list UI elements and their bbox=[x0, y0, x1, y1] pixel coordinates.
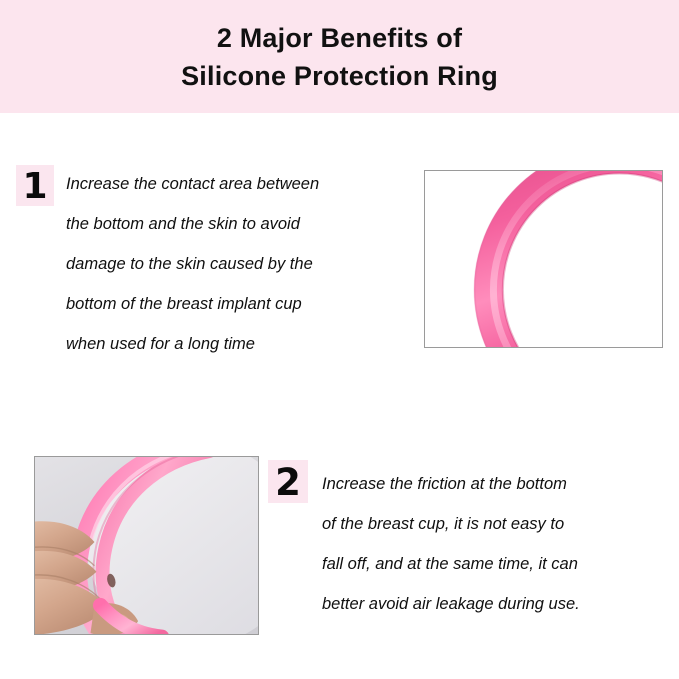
benefit-1-line-3: damage to the skin caused by the bbox=[66, 244, 411, 284]
benefit-1-description: Increase the contact area between the bo… bbox=[66, 164, 411, 364]
hand-holding-ring-photo bbox=[34, 456, 259, 635]
ring-closeup-illustration bbox=[425, 171, 662, 347]
benefit-1-line-1: Increase the contact area between bbox=[66, 164, 411, 204]
hand-holding-ring-illustration bbox=[35, 457, 258, 634]
benefit-2-number-badge: 2 bbox=[268, 460, 308, 503]
header-banner: 2 Major Benefits of Silicone Protection … bbox=[0, 0, 679, 113]
page-title-line-2: Silicone Protection Ring bbox=[181, 57, 498, 95]
benefit-1-line-4: bottom of the breast implant cup bbox=[66, 284, 411, 324]
silicone-ring-closeup-photo bbox=[424, 170, 663, 348]
benefit-2-line-2: of the breast cup, it is not easy to bbox=[322, 504, 672, 544]
benefit-2-description: Increase the friction at the bottom of t… bbox=[322, 464, 672, 624]
benefit-2-line-3: fall off, and at the same time, it can bbox=[322, 544, 672, 584]
benefit-2-line-4: better avoid air leakage during use. bbox=[322, 584, 672, 624]
page-title-line-1: 2 Major Benefits of bbox=[217, 19, 462, 57]
benefit-1-line-2: the bottom and the skin to avoid bbox=[66, 204, 411, 244]
benefit-1-number-badge: 1 bbox=[16, 165, 54, 206]
benefit-2-line-1: Increase the friction at the bottom bbox=[322, 464, 672, 504]
benefit-1-line-5: when used for a long time bbox=[66, 324, 411, 364]
